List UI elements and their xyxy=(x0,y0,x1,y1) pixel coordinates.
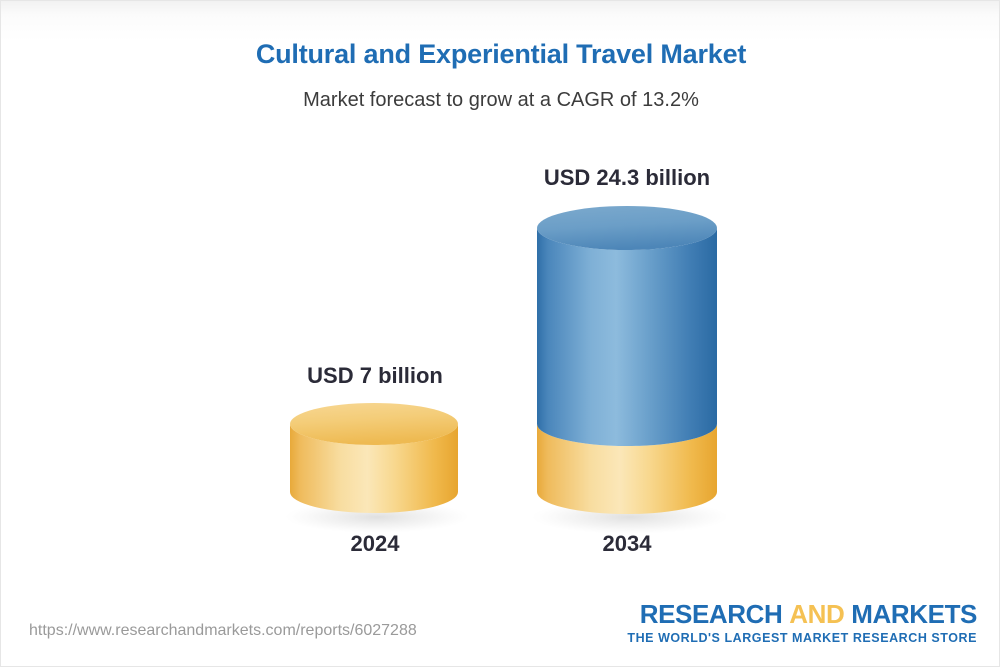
logo-tagline: THE WORLD'S LARGEST MARKET RESEARCH STOR… xyxy=(627,631,977,645)
cylinder-2024-top-cap xyxy=(290,403,458,445)
cylinder-bar-2034[interactable] xyxy=(537,206,717,514)
logo-word-markets: MARKETS xyxy=(851,599,977,629)
cylinder-2034-upper-segment xyxy=(537,228,717,446)
logo-word-and: AND xyxy=(789,599,844,629)
category-label-2034: 2034 xyxy=(511,531,743,557)
chart-canvas: Cultural and Experiential Travel Market … xyxy=(0,0,1000,667)
logo-word-research: RESEARCH xyxy=(640,599,783,629)
category-label-2024: 2024 xyxy=(259,531,491,557)
logo-wordmark: RESEARCH AND MARKETS xyxy=(627,601,977,628)
value-label-2024: USD 7 billion xyxy=(259,363,491,389)
value-label-2034: USD 24.3 billion xyxy=(511,165,743,191)
cylinder-bar-2024[interactable] xyxy=(290,403,458,513)
brand-logo[interactable]: RESEARCH AND MARKETS THE WORLD'S LARGEST… xyxy=(627,601,977,645)
source-url[interactable]: https://www.researchandmarkets.com/repor… xyxy=(29,622,417,640)
cylinder-2034-top-cap xyxy=(537,206,717,250)
cylinder-chart-graphic xyxy=(1,1,1000,667)
